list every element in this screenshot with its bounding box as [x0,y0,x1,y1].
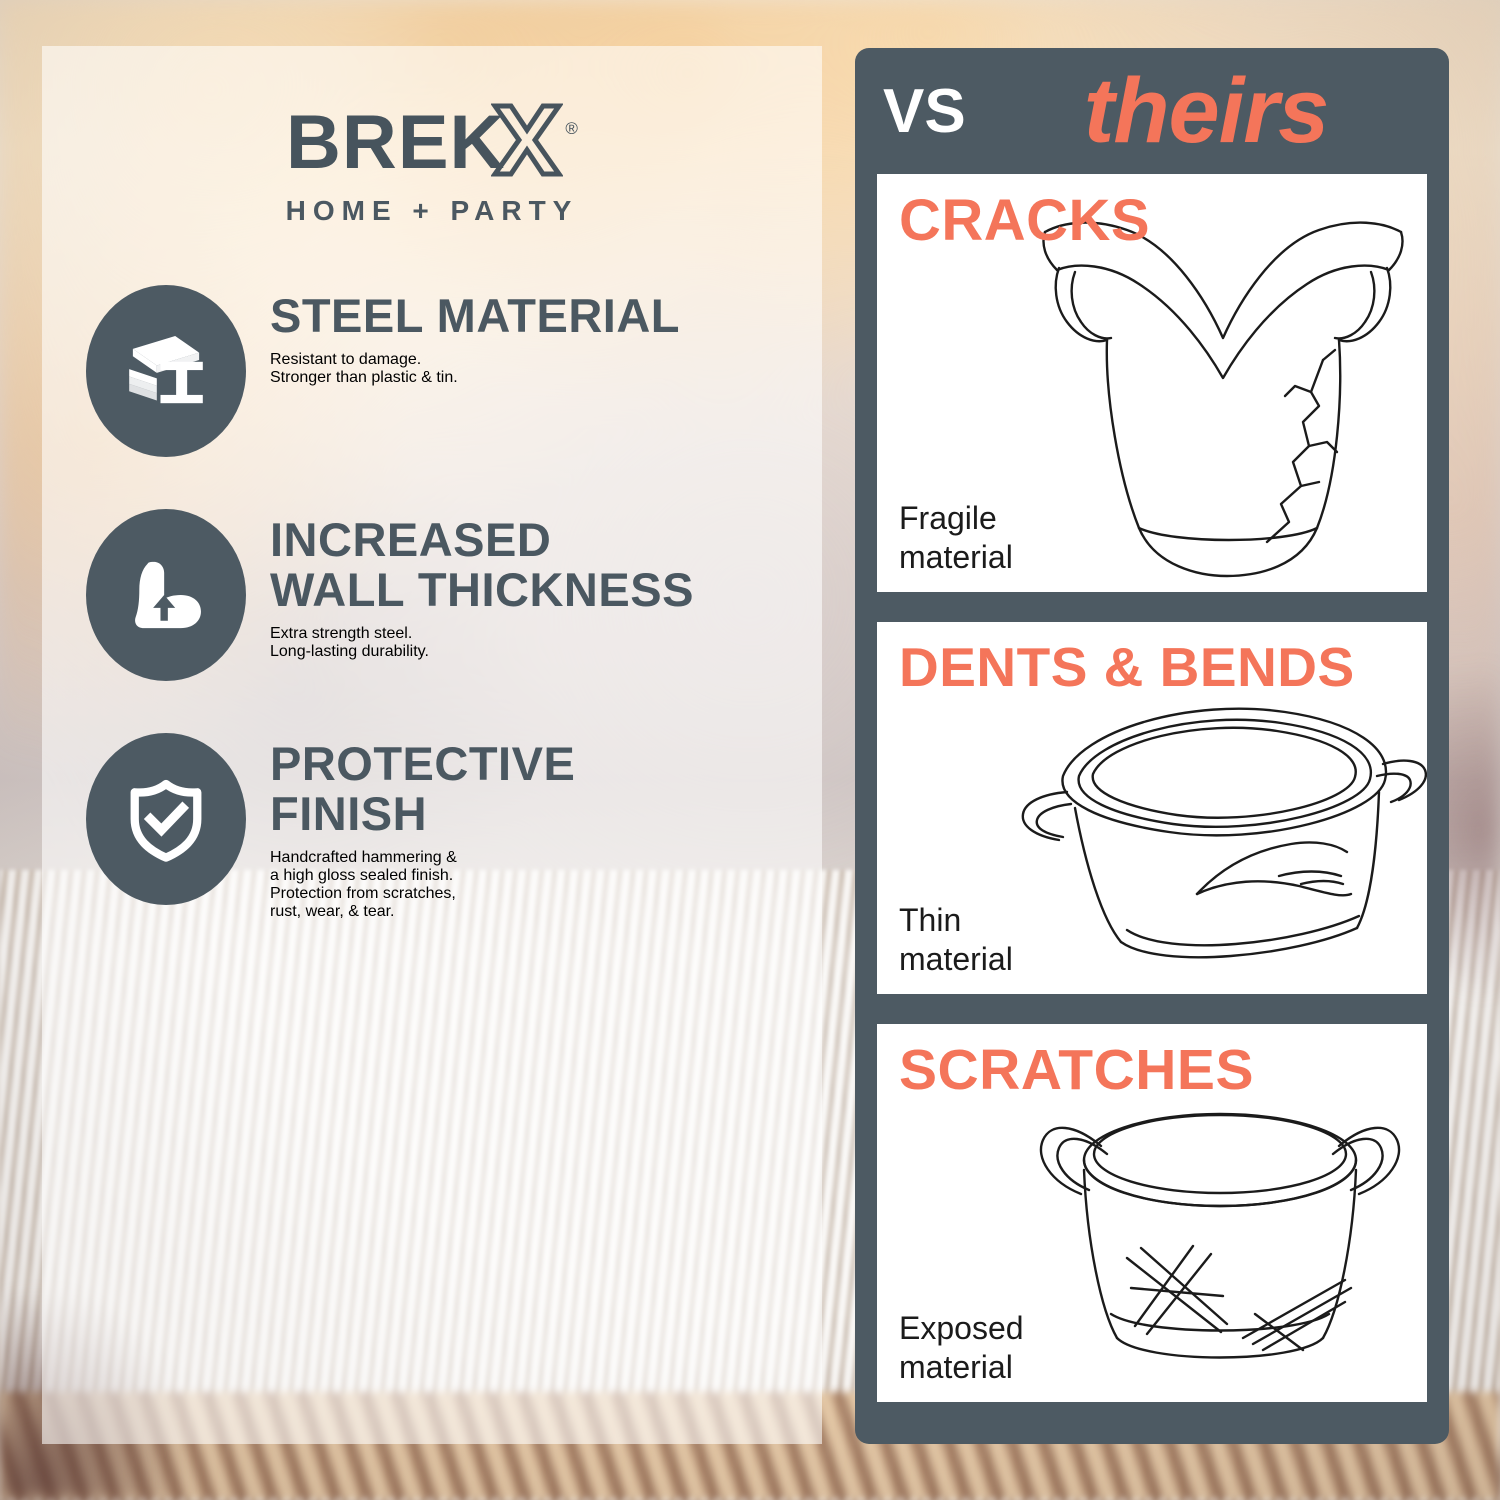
feature-desc-line: Protection from scratches, [270,885,788,903]
scratched-bucket-illustration [1015,1082,1425,1392]
brand-features-panel: BREK ® HOME + PARTY [42,46,822,1444]
comparison-card-cracks: CRACKS [877,174,1427,592]
feature-desc-line: Stronger than plastic & tin. [270,369,788,387]
feature-title-line: INCREASED [270,515,788,565]
vs-label: VS [883,76,966,147]
feature-item-wall-thickness: INCREASED WALL THICKNESS Extra strength … [42,509,822,681]
feature-title-line: FINISH [270,789,788,839]
logo-lockup: BREK ® [286,102,578,181]
steel-beam-icon [86,285,246,457]
card-caption: Fragile material [899,499,1013,576]
shield-check-icon [86,733,246,905]
brand-logo: BREK ® HOME + PARTY [42,102,822,227]
card-caption-line: Thin [899,901,1013,939]
logo-wordmark: BREK [286,105,505,181]
feature-desc-line: Resistant to damage. [270,351,788,369]
feature-title-line: WALL THICKNESS [270,565,788,615]
comparison-card-list: CRACKS [877,174,1427,1402]
theirs-label: theirs [1084,59,1329,164]
registered-trademark-symbol: ® [565,119,578,138]
logo-tagline: HOME + PARTY [42,195,822,227]
feature-item-protective-finish: PROTECTIVE FINISH Handcrafted hammering … [42,733,822,937]
competitor-comparison-panel: VS theirs CRACKS [855,48,1449,1444]
logo-x-icon [491,102,563,178]
feature-desc-line: Extra strength steel. [270,625,788,643]
card-caption: Thin material [899,901,1013,978]
card-caption-line: Fragile [899,499,1013,537]
feature-desc-line: a high gloss sealed finish. [270,867,788,885]
cracked-bucket-illustration [1023,210,1423,582]
feature-item-steel-material: STEEL MATERIAL Resistant to damage. Stro… [42,285,822,457]
feature-title: INCREASED WALL THICKNESS [270,515,788,615]
comparison-card-dents-bends: DENTS & BENDS [877,622,1427,994]
feature-text-wall-thickness: INCREASED WALL THICKNESS Extra strength … [270,509,788,677]
dented-tub-illustration [1001,680,1427,980]
card-caption: Exposed material [899,1309,1024,1386]
card-caption-line: material [899,538,1013,576]
card-title: CRACKS [899,192,1409,250]
card-caption-line: material [899,1348,1024,1386]
feature-text-protective-finish: PROTECTIVE FINISH Handcrafted hammering … [270,733,788,937]
feature-title: PROTECTIVE FINISH [270,739,788,839]
card-title: SCRATCHES [899,1042,1409,1099]
feature-desc-line: Long-lasting durability. [270,643,788,661]
card-caption-line: material [899,940,1013,978]
vs-header: VS theirs [877,48,1427,174]
feature-title-line: PROTECTIVE [270,739,788,789]
feature-list: STEEL MATERIAL Resistant to damage. Stro… [42,285,822,937]
card-title: DENTS & BENDS [899,640,1409,695]
infographic-canvas: BREK ® HOME + PARTY [0,0,1500,1500]
feature-text-steel-material: STEEL MATERIAL Resistant to damage. Stro… [270,285,788,403]
comparison-card-scratches: SCRATCHES [877,1024,1427,1402]
feature-desc-line: rust, wear, & tear. [270,903,788,921]
flexed-bicep-icon [86,509,246,681]
feature-desc-line: Handcrafted hammering & [270,849,788,867]
card-caption-line: Exposed [899,1309,1024,1347]
feature-title: STEEL MATERIAL [270,291,788,341]
